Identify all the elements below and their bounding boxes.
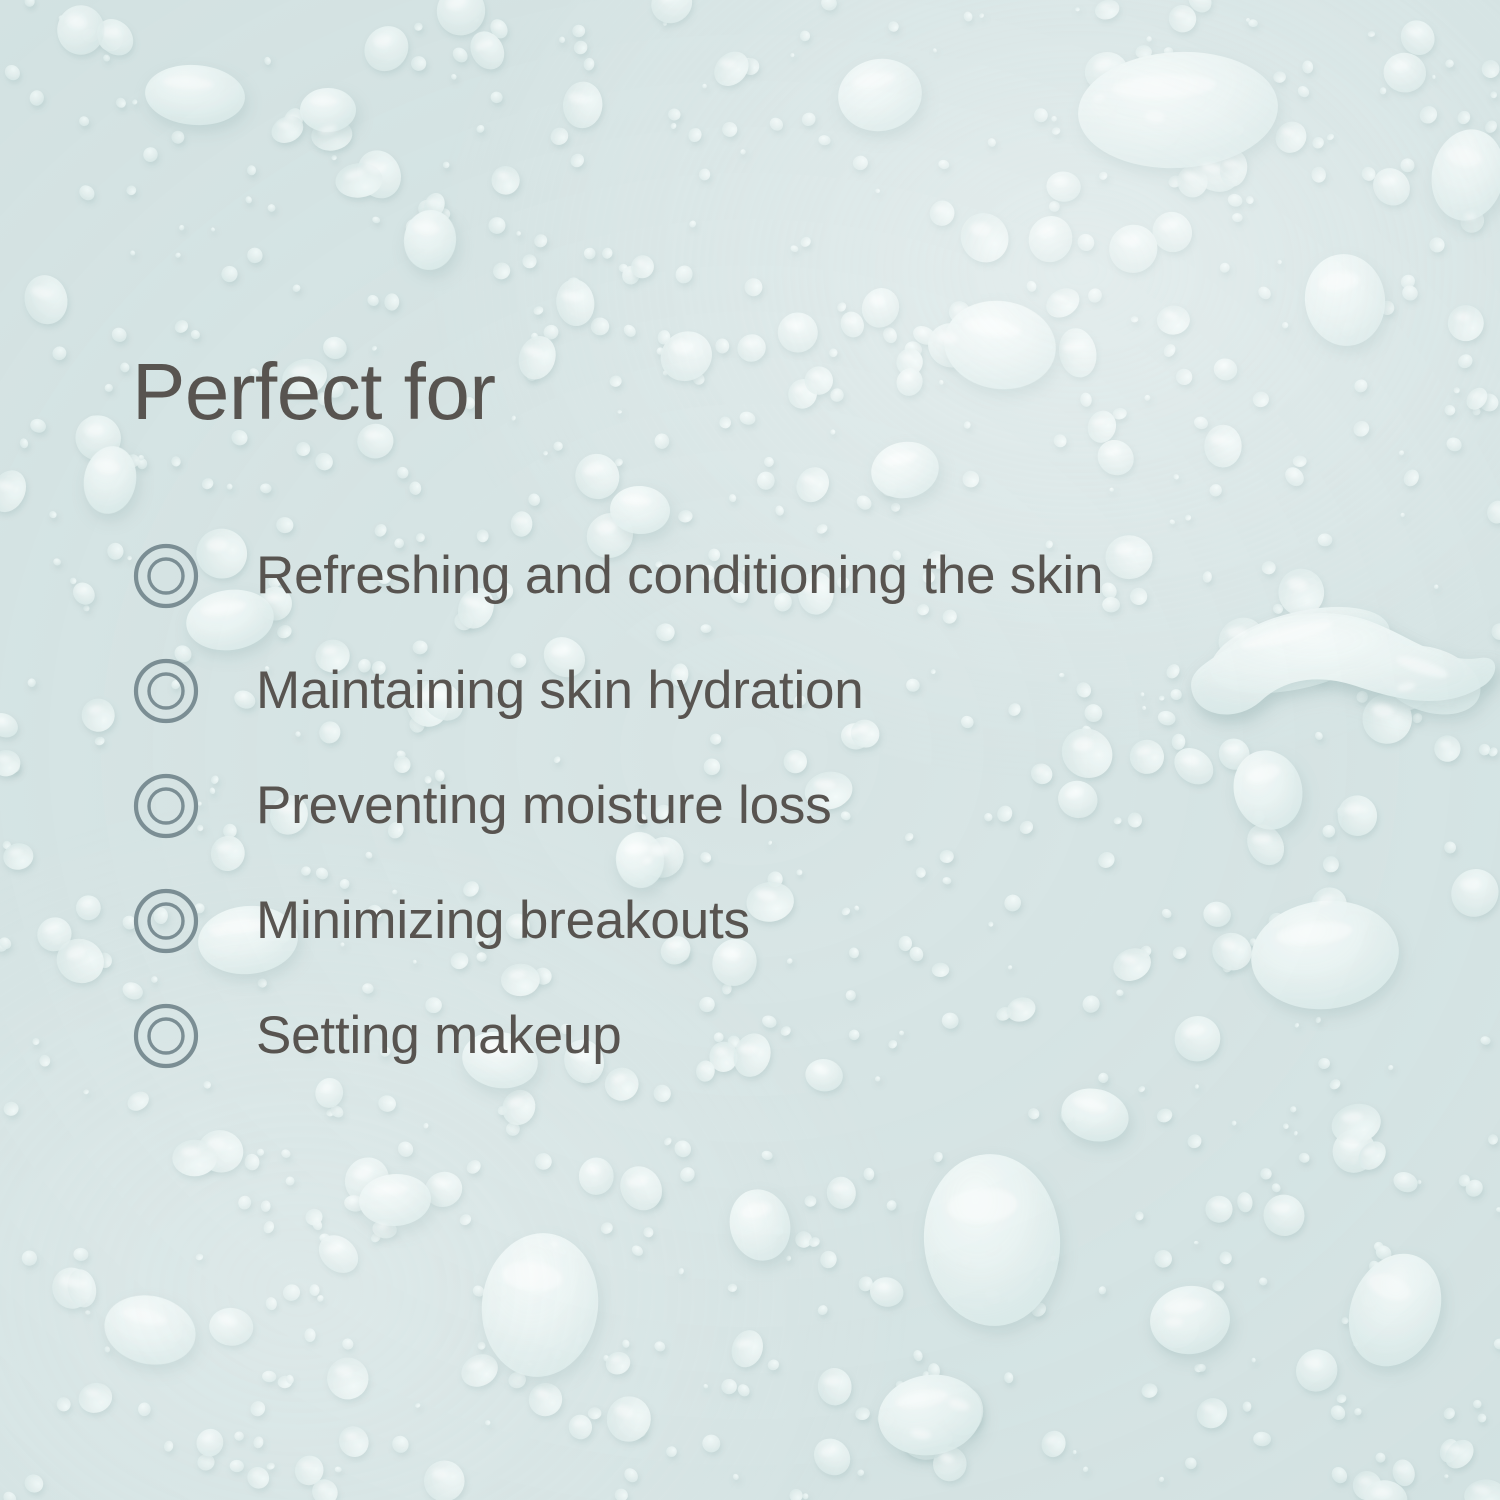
benefit-label: Minimizing breakouts <box>256 893 750 949</box>
double-circle-bullet-icon <box>132 657 200 725</box>
list-item: Setting makeup <box>132 978 1412 1093</box>
benefit-label: Preventing moisture loss <box>256 778 832 834</box>
benefit-label: Maintaining skin hydration <box>256 663 864 719</box>
list-item: Minimizing breakouts <box>132 863 1412 978</box>
product-benefits-card: Perfect for Refreshing and conditioning … <box>0 0 1500 1500</box>
double-circle-bullet-icon <box>132 772 200 840</box>
page-title: Perfect for <box>132 352 1412 432</box>
content-block: Perfect for Refreshing and conditioning … <box>132 352 1412 1093</box>
list-item: Refreshing and conditioning the skin <box>132 518 1412 633</box>
double-circle-bullet-icon <box>132 887 200 955</box>
double-circle-bullet-icon <box>132 542 200 610</box>
benefit-label: Setting makeup <box>256 1008 621 1064</box>
list-item: Maintaining skin hydration <box>132 633 1412 748</box>
benefit-list: Refreshing and conditioning the skin Mai… <box>132 518 1412 1093</box>
list-item: Preventing moisture loss <box>132 748 1412 863</box>
benefit-label: Refreshing and conditioning the skin <box>256 548 1103 604</box>
double-circle-bullet-icon <box>132 1002 200 1070</box>
